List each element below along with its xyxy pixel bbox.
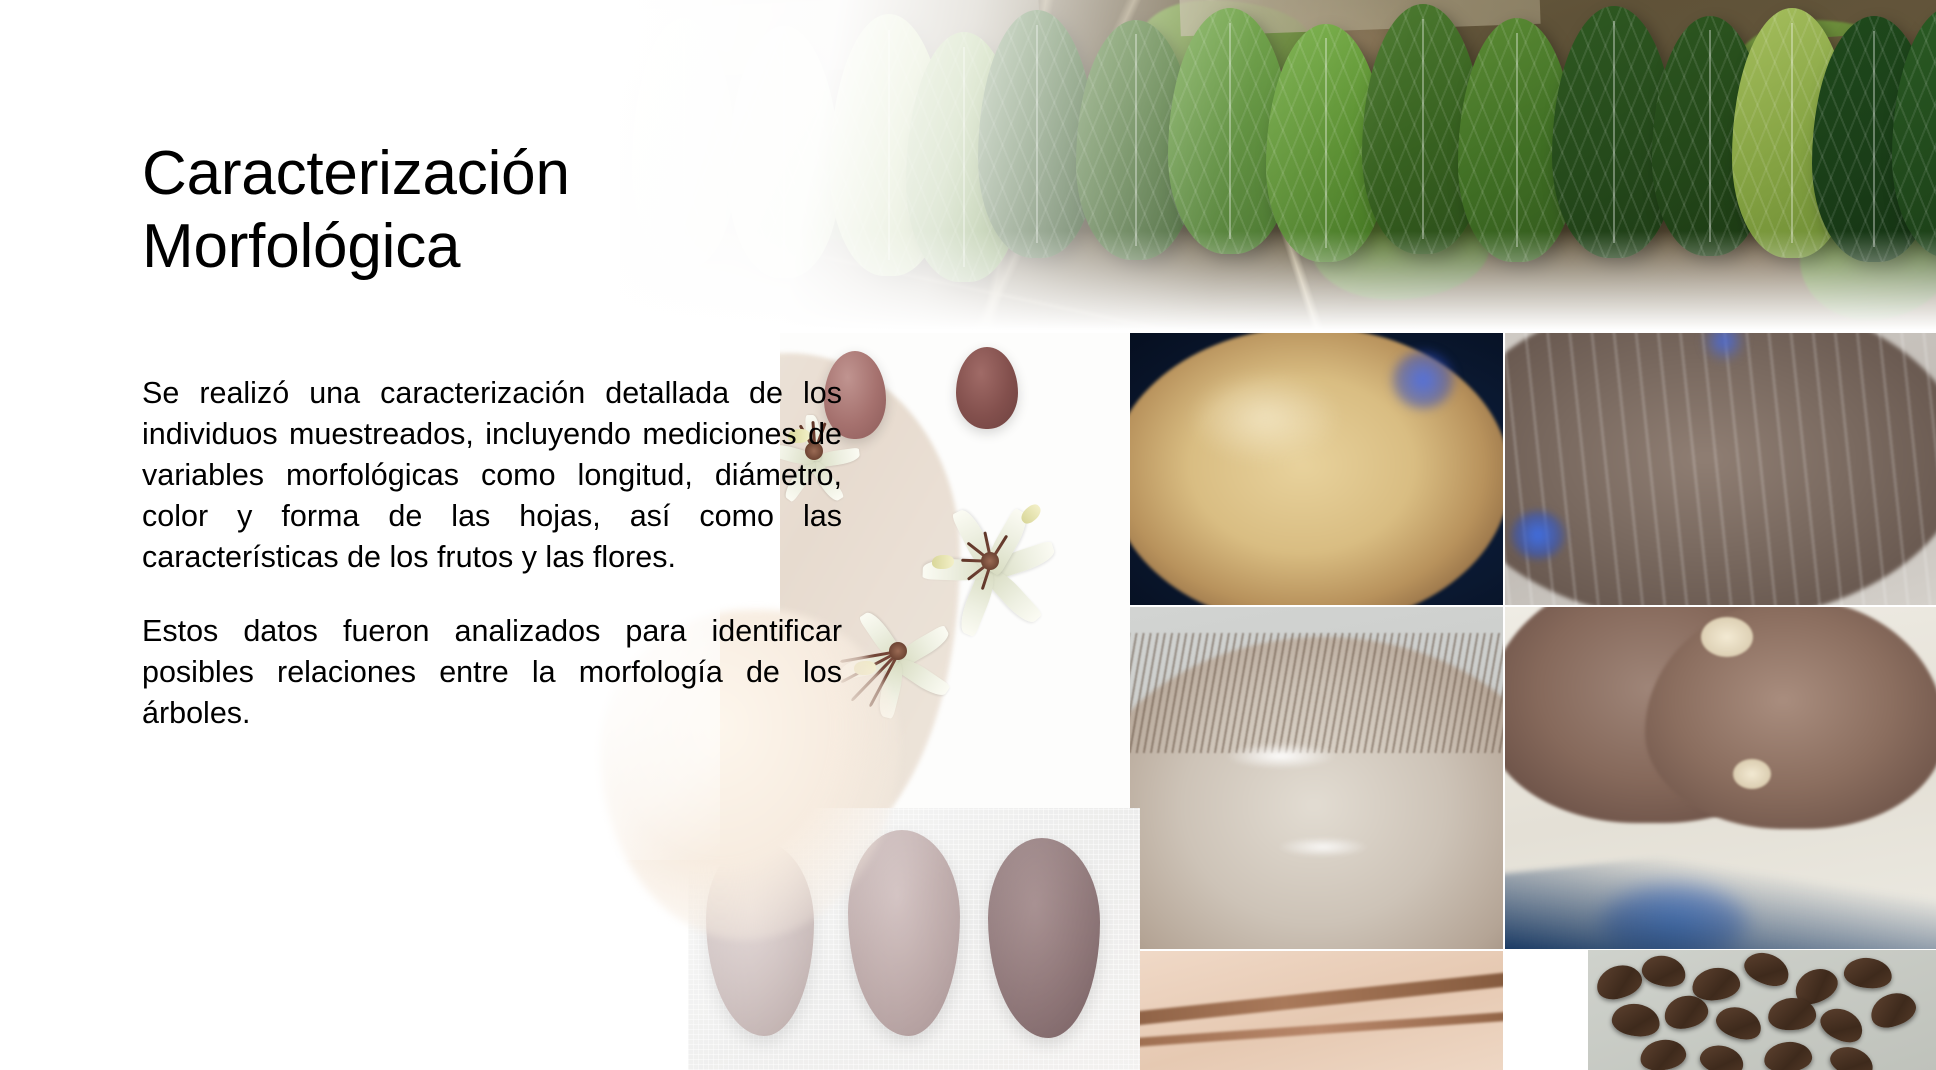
flower-bud	[932, 555, 954, 569]
blue-glare	[1392, 351, 1454, 409]
dried-cacao-beans-image	[1588, 950, 1936, 1070]
flower-center	[889, 642, 907, 660]
leaf-row-banner-image	[620, 0, 1936, 330]
specular-highlight	[1190, 373, 1340, 463]
banner-left-fade	[620, 0, 1936, 330]
microscope-seed-translucent-image	[1130, 607, 1503, 949]
specular-highlight	[1226, 743, 1336, 769]
embryo-node	[1733, 759, 1771, 789]
title-line-2: Morfológica	[142, 212, 460, 281]
pink-seed	[956, 347, 1018, 429]
embryo-node	[1701, 617, 1753, 657]
cacao-bean	[1712, 1002, 1765, 1045]
cacao-bean	[1763, 1040, 1814, 1070]
microscope-seed-cream-image	[1130, 333, 1503, 605]
body-paragraph-2: Estos datos fueron analizados para ident…	[142, 611, 842, 734]
cacao-bean	[1843, 956, 1894, 991]
slide-canvas: Caracterización Morfológica Se realizó u…	[0, 0, 1936, 1070]
cacao-bean	[1827, 1041, 1878, 1070]
page-title: Caracterización Morfológica	[142, 137, 782, 283]
microscope-dark-edge	[1505, 820, 1936, 949]
microscope-seed-striated-image	[1505, 333, 1936, 605]
cacao-bean	[1592, 960, 1646, 1005]
seed-hairs	[1130, 633, 1503, 753]
specular-highlight	[1278, 837, 1368, 857]
cacao-bean	[1638, 1036, 1689, 1070]
cacao-bean	[1866, 987, 1920, 1033]
cacao-bean	[1639, 952, 1688, 990]
microscope-fiber-image	[1130, 951, 1503, 1070]
cacao-bean	[1610, 1001, 1662, 1039]
cacao-bean	[1740, 950, 1794, 992]
seed-shape-right	[1645, 607, 1936, 829]
cacao-bean	[1816, 1002, 1869, 1048]
seed-striations	[1505, 333, 1936, 605]
blue-glare	[1511, 511, 1565, 559]
cacao-bean	[1697, 1041, 1746, 1070]
body-paragraph-1: Se realizó una caracterización detallada…	[142, 373, 842, 578]
body-text-column: Se realizó una caracterización detallada…	[142, 373, 842, 734]
flower-center	[981, 552, 999, 570]
title-line-1: Caracterización	[142, 139, 570, 208]
microscope-seed-pair-image	[1505, 607, 1936, 949]
